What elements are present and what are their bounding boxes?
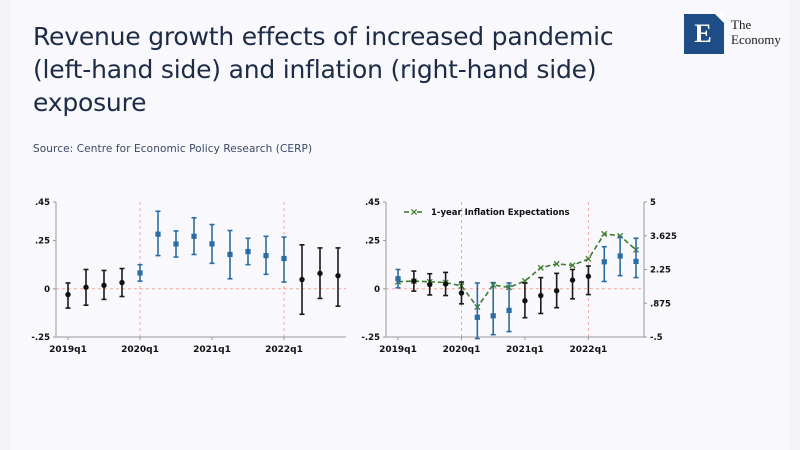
- estimate-marker: [491, 313, 496, 318]
- x-tick-label: 2020q1: [121, 345, 159, 355]
- x-tick-label: 2021q1: [506, 345, 544, 355]
- y-tick-label: .25: [365, 237, 380, 247]
- estimate-point-group: [586, 266, 591, 295]
- estimate-marker: [119, 280, 124, 285]
- estimate-point-group: [137, 265, 142, 281]
- x-tick-label: 2022q1: [570, 345, 608, 355]
- estimate-marker: [586, 274, 591, 279]
- estimate-point-group: [554, 273, 559, 307]
- estimate-marker: [554, 288, 559, 293]
- estimate-point-group: [173, 231, 178, 257]
- estimate-marker: [245, 249, 250, 254]
- estimate-marker: [570, 277, 575, 282]
- estimate-point-group: [522, 283, 527, 318]
- estimate-point-group: [65, 283, 70, 308]
- logo-word-line2: Economy: [731, 32, 781, 47]
- estimate-point-group: [459, 282, 464, 304]
- estimate-point-group: [602, 247, 607, 282]
- chart-inflation-exposure: .45.250-.2553.6252.25.875-.52019q12020q1…: [360, 190, 678, 365]
- estimate-point-group: [101, 270, 106, 299]
- logo-fold-corner-icon: [715, 14, 724, 23]
- estimate-marker: [317, 271, 322, 276]
- y-tick-label: -.25: [361, 333, 380, 343]
- estimate-marker: [602, 259, 607, 264]
- y-tick-label: .45: [365, 198, 380, 208]
- estimate-point-group: [83, 270, 88, 306]
- estimate-marker: [65, 292, 70, 297]
- estimate-marker: [443, 281, 448, 286]
- y-tick-label: 0: [374, 285, 380, 295]
- estimate-marker: [506, 308, 511, 313]
- estimate-point-group: [209, 225, 214, 264]
- estimate-point-group: [119, 269, 124, 297]
- estimate-marker: [427, 282, 432, 287]
- estimate-marker: [618, 253, 623, 258]
- slide-canvas: Revenue growth effects of increased pand…: [0, 0, 800, 450]
- y-tick-label: .45: [35, 198, 50, 208]
- y-tick-label: -.25: [31, 333, 50, 343]
- estimate-marker: [411, 278, 416, 283]
- estimate-point-group: [427, 274, 432, 295]
- estimate-marker: [335, 273, 340, 278]
- estimate-point-group: [538, 278, 543, 314]
- x-tick-label: 2020q1: [443, 345, 481, 355]
- estimate-marker: [173, 241, 178, 246]
- inflation-expectations-marker: [538, 265, 543, 270]
- y-tick-label: .25: [35, 237, 50, 247]
- estimate-point-group: [411, 271, 416, 291]
- y2-tick-label: 5: [650, 198, 656, 208]
- estimate-point-group: [155, 211, 160, 255]
- x-tick-label: 2021q1: [193, 345, 231, 355]
- estimate-marker: [227, 252, 232, 257]
- estimate-marker: [633, 259, 638, 264]
- logo-word-line1: The: [731, 17, 781, 32]
- estimate-point-group: [245, 238, 250, 264]
- estimate-marker: [263, 253, 268, 258]
- estimate-point-group: [570, 270, 575, 299]
- inflation-exposure-svg: .45.250-.2553.6252.25.875-.52019q12020q1…: [360, 190, 678, 365]
- estimate-point-group: [491, 283, 496, 335]
- estimate-point-group: [633, 238, 638, 277]
- x-tick-label: 2022q1: [265, 345, 303, 355]
- estimate-point-group: [395, 270, 400, 288]
- y2-tick-label: 2.25: [650, 266, 671, 276]
- estimate-marker: [475, 315, 480, 320]
- chart-legend: 1-year Inflation Expectations: [404, 208, 570, 218]
- pandemic-exposure-svg: .45.250-.252019q12020q12021q12022q1: [22, 190, 352, 365]
- legend-label: 1-year Inflation Expectations: [431, 208, 570, 218]
- estimate-marker: [101, 283, 106, 288]
- estimate-point-group: [475, 283, 480, 339]
- y2-tick-label: .875: [650, 299, 671, 309]
- estimate-marker: [538, 293, 543, 298]
- estimate-point-group: [299, 245, 304, 314]
- y2-tick-label: -.5: [650, 333, 663, 343]
- estimate-point-group: [191, 218, 196, 255]
- estimate-marker: [155, 232, 160, 237]
- page-title: Revenue growth effects of increased pand…: [33, 20, 653, 119]
- estimate-marker: [137, 270, 142, 275]
- inflation-expectations-line: [398, 234, 636, 307]
- estimate-point-group: [618, 237, 623, 276]
- x-tick-label: 2019q1: [379, 345, 417, 355]
- estimate-point-group: [443, 272, 448, 295]
- source-caption: Source: Centre for Economic Policy Resea…: [33, 143, 312, 155]
- estimate-point-group: [506, 283, 511, 332]
- estimate-marker: [522, 298, 527, 303]
- estimate-point-group: [281, 237, 286, 282]
- estimate-marker: [191, 234, 196, 239]
- chart-pandemic-exposure: .45.250-.252019q12020q12021q12022q1: [22, 190, 352, 365]
- logo-wordmark: The Economy: [731, 17, 781, 47]
- estimate-marker: [459, 290, 464, 295]
- estimate-marker: [281, 256, 286, 261]
- estimate-point-group: [317, 248, 322, 299]
- estimate-marker: [395, 276, 400, 281]
- logo-mark-icon: E: [684, 14, 724, 54]
- estimate-point-group: [263, 236, 268, 274]
- estimate-point-group: [335, 248, 340, 306]
- estimate-point-group: [227, 231, 232, 279]
- estimate-marker: [83, 285, 88, 290]
- x-tick-label: 2019q1: [49, 345, 87, 355]
- y-tick-label: 0: [44, 285, 50, 295]
- estimate-marker: [209, 241, 214, 246]
- estimate-marker: [299, 277, 304, 282]
- y2-tick-label: 3.625: [650, 232, 677, 242]
- brand-logo: E The Economy: [684, 14, 780, 58]
